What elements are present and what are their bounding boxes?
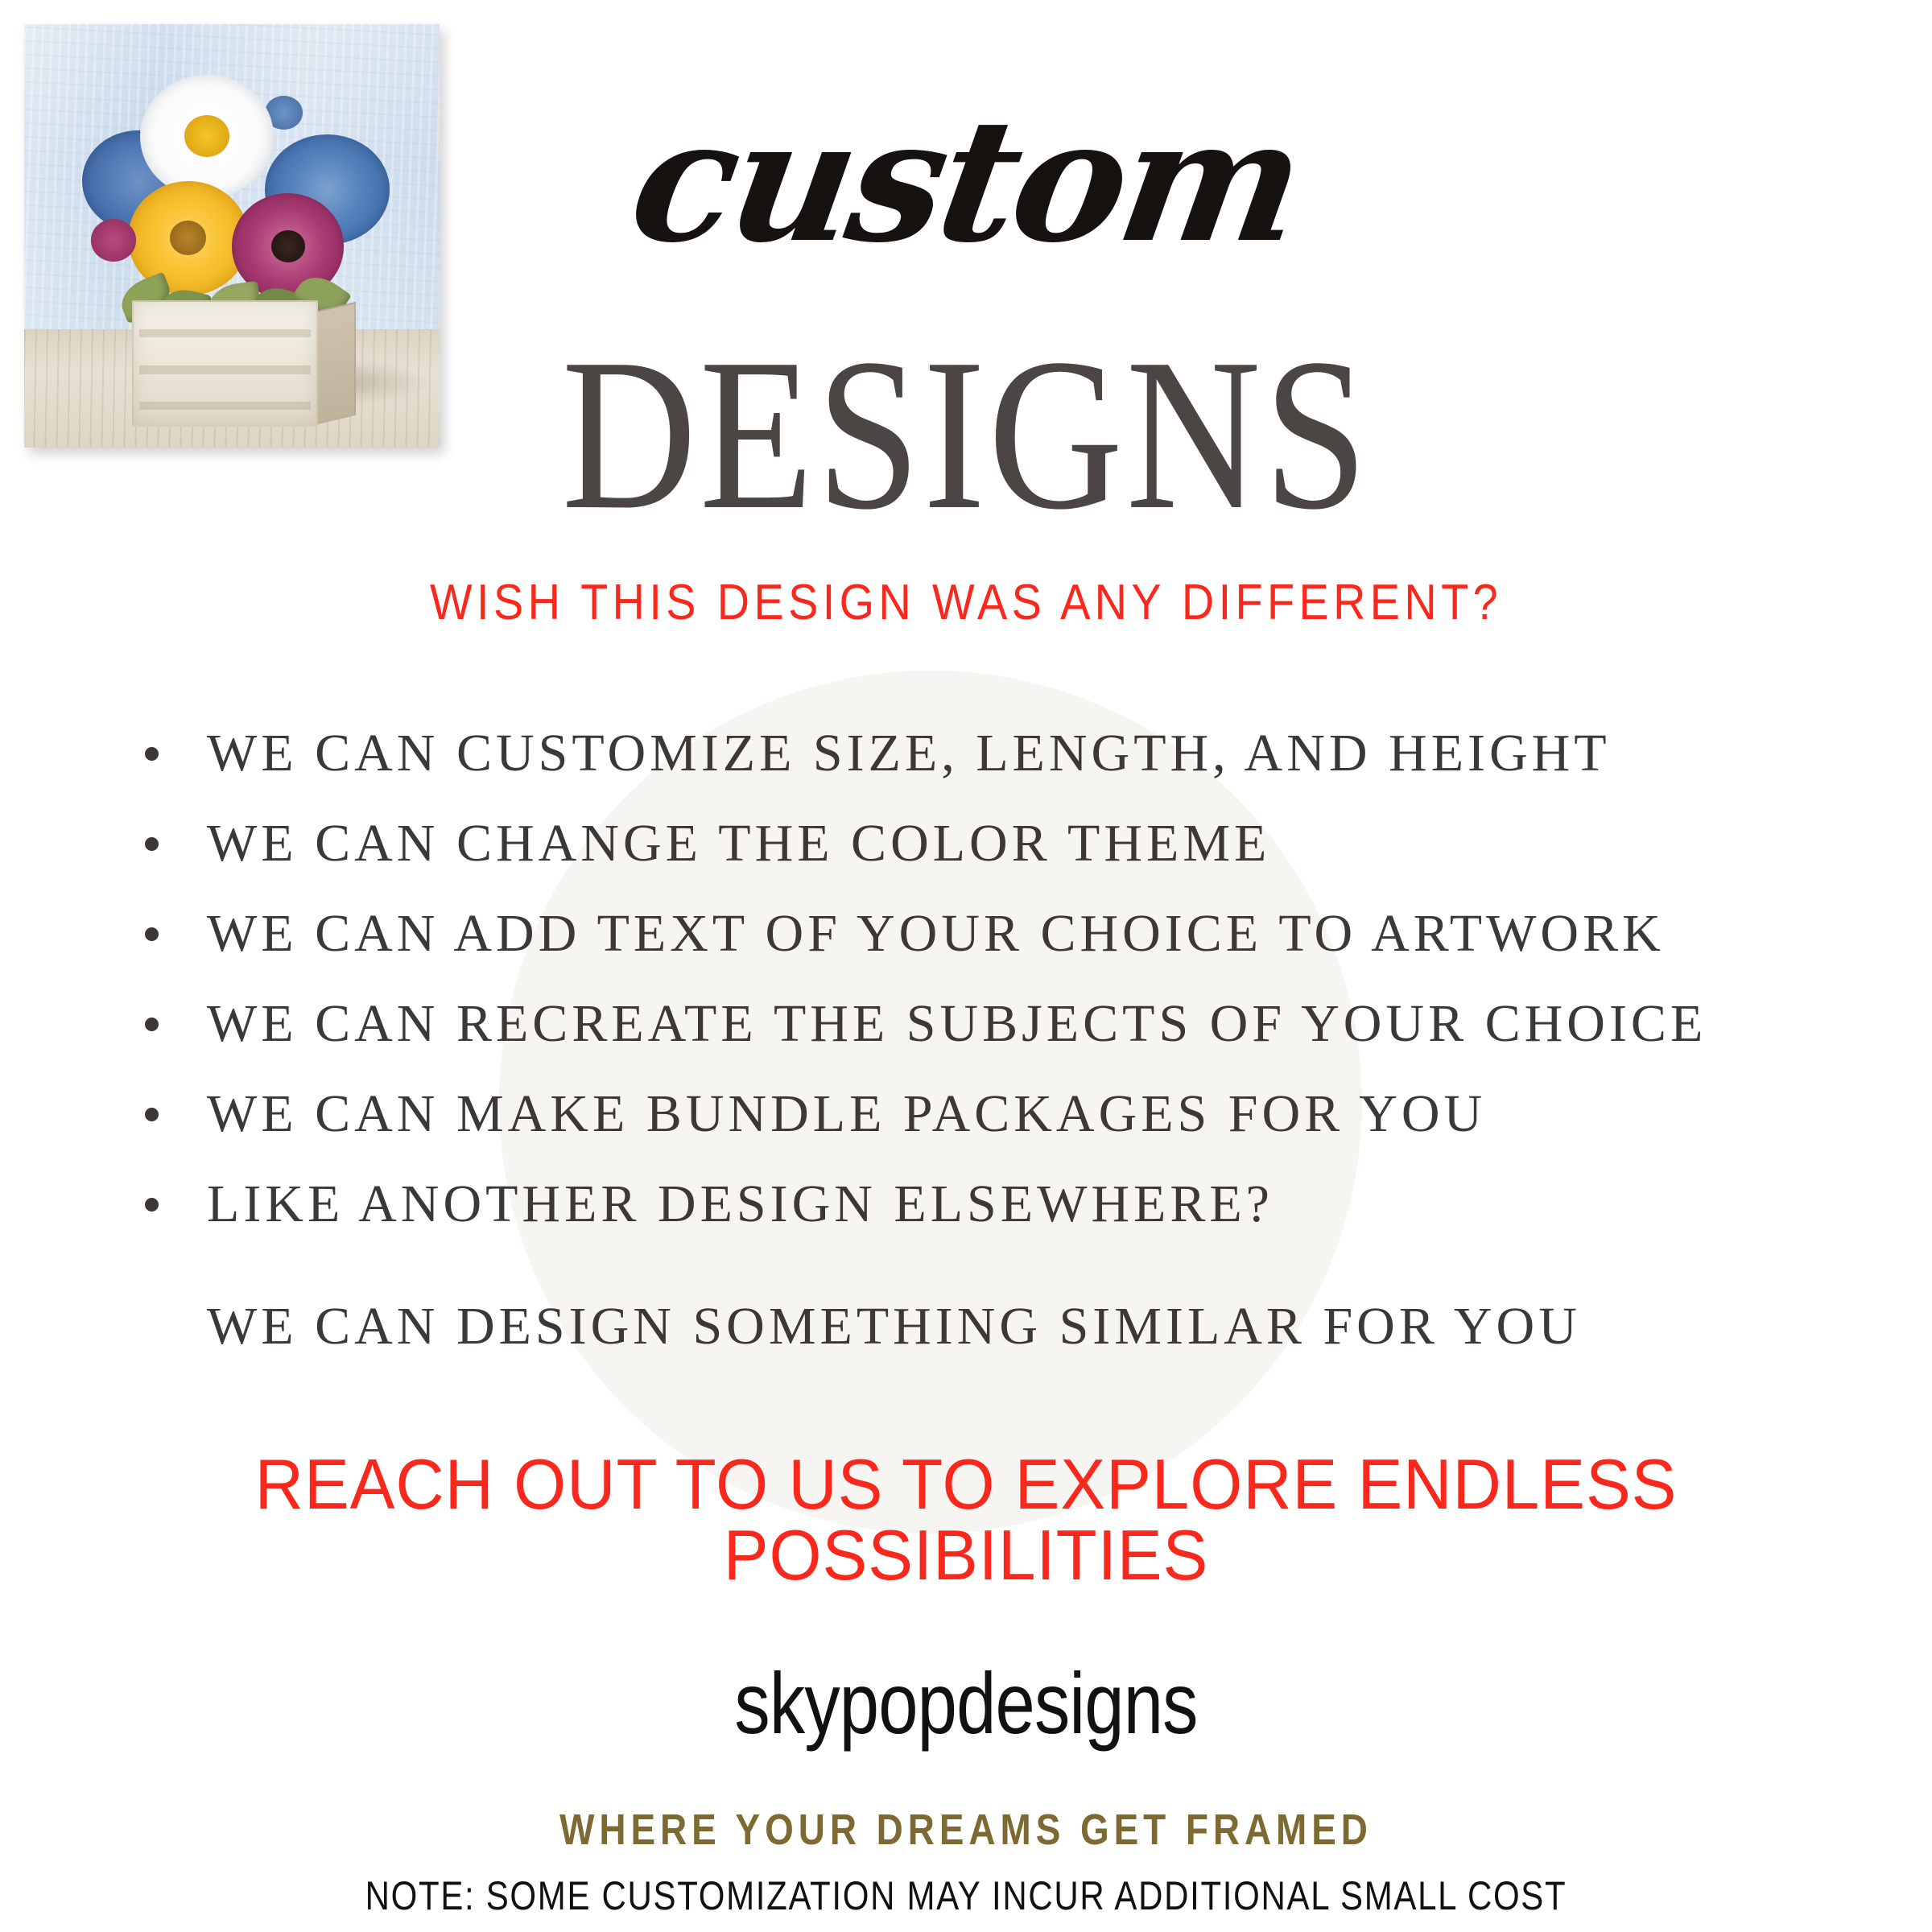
- list-item-label: WE CAN RECREATE THE SUBJECTS OF YOUR CHO…: [207, 993, 1707, 1055]
- list-item-label: WE CAN CUSTOMIZE SIZE, LENGTH, AND HEIGH…: [207, 723, 1611, 784]
- list-item-label: LIKE ANOTHER DESIGN ELSEWHERE?: [207, 1174, 1274, 1235]
- subheading-question: WISH THIS DESIGN WAS ANY DIFFERENT?: [97, 578, 1835, 628]
- bullet-dot-icon: [145, 1018, 159, 1031]
- list-item-label: WE CAN ADD TEXT OF YOUR CHOICE TO ARTWOR…: [207, 903, 1665, 964]
- list-item-label: WE CAN MAKE BUNDLE PACKAGES FOR YOU: [207, 1084, 1486, 1145]
- bullet-dot-icon: [145, 747, 159, 761]
- list-continuation-line: WE CAN DESIGN SOMETHING SIMILAR FOR YOU: [145, 1296, 1913, 1357]
- page-title-designs: DESIGNS: [135, 326, 1797, 543]
- bullet-dot-icon: [145, 1198, 159, 1212]
- list-item-label: WE CAN CHANGE THE COLOR THEME: [207, 813, 1270, 874]
- list-item: WE CAN CUSTOMIZE SIZE, LENGTH, AND HEIGH…: [145, 708, 1851, 799]
- list-item: WE CAN RECREATE THE SUBJECTS OF YOUR CHO…: [145, 979, 1851, 1069]
- list-item: WE CAN MAKE BUNDLE PACKAGES FOR YOU: [145, 1069, 1851, 1159]
- brand-tagline: WHERE YOUR DREAMS GET FRAMED: [145, 1808, 1787, 1851]
- brand-wordmark: skypopdesigns: [174, 1660, 1758, 1747]
- footer-note: NOTE: SOME CUSTOMIZATION MAY INCUR ADDIT…: [155, 1876, 1777, 1916]
- call-to-action-text: REACH OUT TO US TO EXPLORE ENDLESS POSSI…: [48, 1449, 1884, 1591]
- list-item: WE CAN CHANGE THE COLOR THEME: [145, 799, 1851, 889]
- listing-graphic-canvas: custom DESIGNS WISH THIS DESIGN WAS ANY …: [0, 0, 1932, 1932]
- customization-options-list: WE CAN CUSTOMIZE SIZE, LENGTH, AND HEIGH…: [145, 708, 1851, 1249]
- bullet-dot-icon: [145, 927, 159, 941]
- script-heading-custom: custom: [0, 97, 1932, 266]
- list-item: WE CAN ADD TEXT OF YOUR CHOICE TO ARTWOR…: [145, 889, 1851, 979]
- list-item: LIKE ANOTHER DESIGN ELSEWHERE?: [145, 1159, 1851, 1249]
- bullet-dot-icon: [145, 1108, 159, 1121]
- bullet-dot-icon: [145, 837, 159, 851]
